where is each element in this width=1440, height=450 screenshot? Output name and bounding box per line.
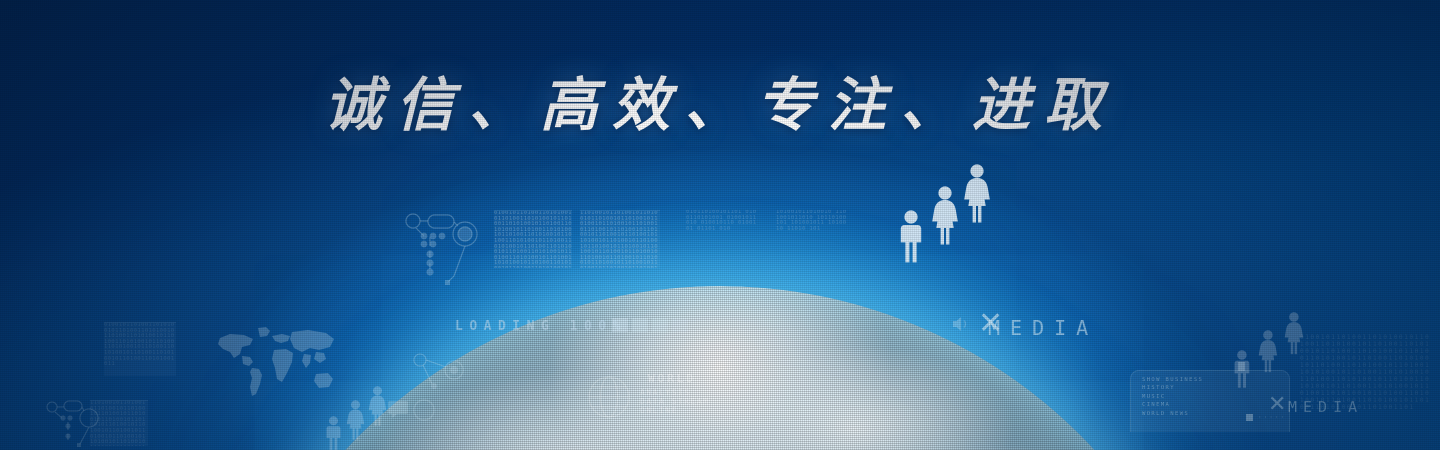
x-logo-icon-top: ✕ xyxy=(978,306,1003,341)
binary-stream-d: 101001011010010 1101001011010 1011010010… xyxy=(776,210,850,268)
media-categories-list: SHOW BUSINESS HISTORY MUSIC CINEMA WORLD… xyxy=(1142,376,1203,418)
media-label-top: MEDIA xyxy=(988,316,1098,340)
chat-bubbles-icon xyxy=(388,398,436,424)
data-block-e: 0100101101001101010010110100110101001011… xyxy=(104,322,176,376)
media-categories-panel xyxy=(1130,370,1290,432)
panel-dots: ····· xyxy=(1258,414,1286,421)
binary-stream-c: 010110100101101 0100110101001 0100101101… xyxy=(686,210,758,268)
media-label-bottom: MEDIA xyxy=(1288,398,1363,416)
data-block-right: 0100101101001101010010110100110101001011… xyxy=(1300,334,1432,430)
speaker-icon xyxy=(952,316,972,332)
globe-wireframe-icon xyxy=(586,374,632,420)
data-block-f: 1101001011010010110100101101001011010010… xyxy=(90,400,148,446)
network-nodes-icon xyxy=(402,206,494,288)
panel-antenna xyxy=(1238,362,1245,371)
data-block-a: 0100101101001101010010110100110101001011… xyxy=(494,210,572,268)
hero-banner: 诚信、高效、专注、进取 0100101101001101010010110100… xyxy=(0,0,1440,450)
data-block-b: 1101001011010010110100101101001011010010… xyxy=(580,210,660,268)
people-group-icon-right xyxy=(1232,312,1318,390)
world-map-icon xyxy=(212,322,340,404)
earth-globe xyxy=(210,286,1230,450)
people-group-icon xyxy=(886,164,996,264)
network-nodes-icon-bottom-left xyxy=(44,396,110,450)
loading-progress-bars xyxy=(612,318,688,332)
panel-indicator-chip xyxy=(1246,414,1253,421)
page-title: 诚信、高效、专注、进取 xyxy=(0,58,1440,142)
